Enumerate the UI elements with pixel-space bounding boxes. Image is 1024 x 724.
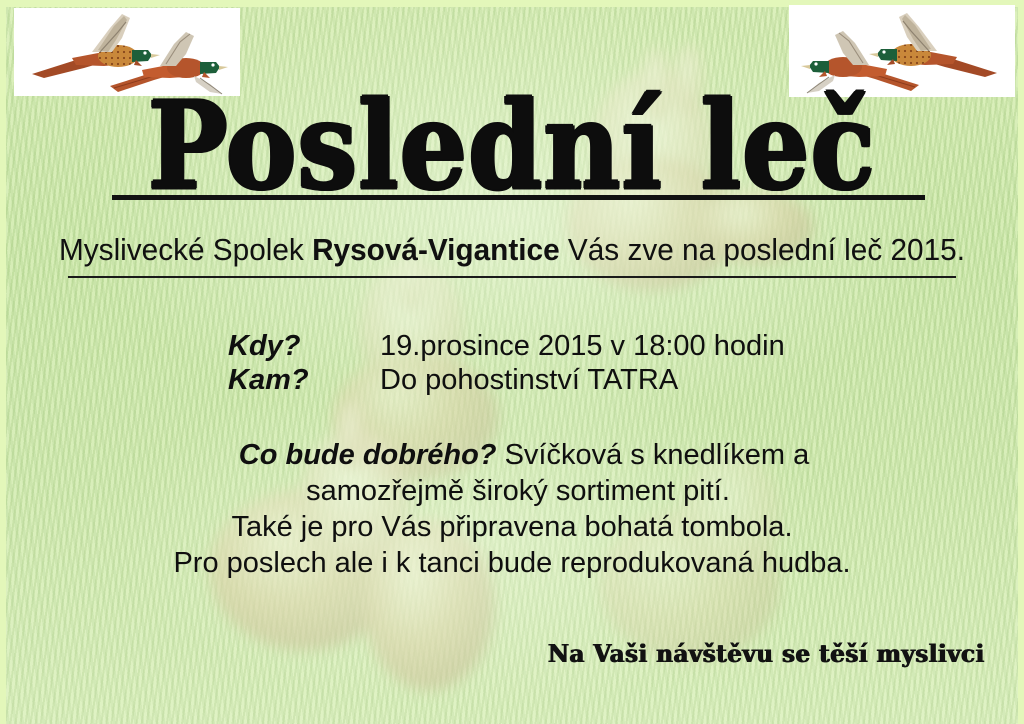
subtitle-text-before: Myslivecké Spolek (59, 232, 312, 267)
title-underline-rule (112, 195, 925, 200)
body-line-3: Také je pro Vás připravena bohatá tombol… (0, 509, 1024, 545)
body-line-2: samozřejmě široký sortiment pití. (0, 473, 1024, 509)
poster-title: Poslední leč (0, 86, 1024, 207)
pheasant-bird-rear (32, 14, 160, 78)
detail-value-when: 19.prosince 2015 v 18:00 hodin (380, 330, 785, 363)
detail-row-when: Kdy? 19.prosince 2015 v 18:00 hodin (228, 330, 928, 364)
subtitle-underline-rule (68, 276, 956, 278)
poster-subtitle: Myslivecké Spolek Rysová-Vigantice Vás z… (20, 232, 1003, 268)
detail-value-where: Do pohostinství TATRA (380, 364, 678, 397)
body-lead-question: Co bude dobrého? (239, 439, 497, 471)
poster-body-block: Co bude dobrého? Svíčková s knedlíkem a … (0, 437, 1024, 581)
poster-canvas: Poslední leč Myslivecké Spolek Rysová-Vi… (0, 0, 1024, 724)
pheasant-bird-rear (869, 13, 997, 77)
poster-signature: Na Vaši návštěvu se těší myslivci (548, 641, 985, 669)
detail-label-where: Kam? (228, 364, 380, 397)
body-line-1: Co bude dobrého? Svíčková s knedlíkem a (0, 437, 1024, 473)
detail-row-where: Kam? Do pohostinství TATRA (228, 364, 928, 398)
subtitle-text-after: Vás zve na poslední leč 2015. (560, 232, 965, 267)
body-lead-rest: Svíčková s knedlíkem a (497, 439, 810, 471)
subtitle-club-name: Rysová-Vigantice (312, 232, 560, 267)
detail-label-when: Kdy? (228, 330, 380, 363)
body-line-4: Pro poslech ale i k tanci bude reproduko… (0, 545, 1024, 581)
event-details-block: Kdy? 19.prosince 2015 v 18:00 hodin Kam?… (228, 330, 928, 398)
